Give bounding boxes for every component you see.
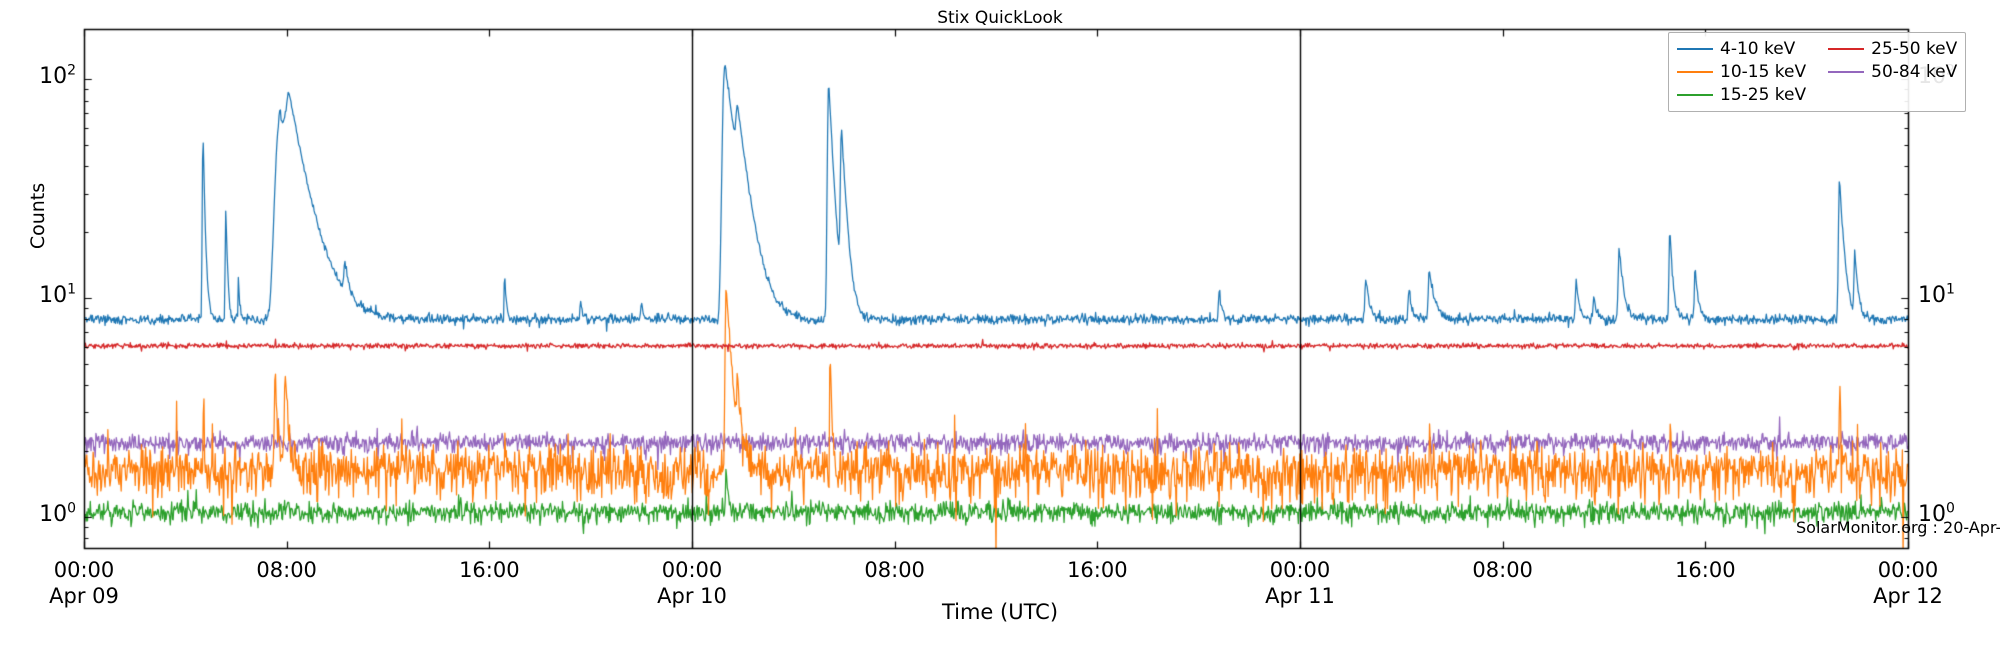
x-tick-time: 08:00 [197, 558, 377, 582]
page-title: Stix QuickLook [0, 8, 2000, 28]
x-tick-time: 00:00 [602, 558, 782, 582]
y-axis-label: Counts [27, 156, 49, 276]
x-tick-date: Apr 11 [1210, 584, 1390, 608]
x-tick-time: 00:00 [0, 558, 174, 582]
legend-line-icon [1828, 71, 1864, 73]
stix-quicklook-figure: Stix QuickLook Counts Time (UTC) 1001001… [0, 0, 2000, 650]
credit-watermark: SolarMonitor.org : 20-Apr-2026 21:30 UTC [1796, 518, 1898, 537]
legend-line-icon [1677, 48, 1713, 50]
legend-line-icon [1677, 71, 1713, 73]
y-tick-label-left: 102 [6, 64, 76, 89]
legend-entry[interactable]: 25-50 keV [1828, 38, 1957, 60]
x-tick-time: 00:00 [1210, 558, 1390, 582]
x-tick-time: 16:00 [399, 558, 579, 582]
x-tick-date: Apr 09 [0, 584, 174, 608]
y-tick-label-right: 101 [1918, 283, 1998, 308]
x-tick-time: 00:00 [1818, 558, 1998, 582]
legend-label: 10-15 keV [1720, 62, 1806, 82]
x-tick-time: 16:00 [1615, 558, 1795, 582]
x-tick-date: Apr 10 [602, 584, 782, 608]
legend-label: 15-25 keV [1720, 85, 1806, 105]
legend-label: 50-84 keV [1871, 62, 1957, 82]
legend-entry[interactable]: 4-10 keV [1677, 38, 1806, 60]
legend-label: 25-50 keV [1871, 39, 1957, 59]
legend-line-icon [1828, 48, 1864, 50]
x-tick-time: 08:00 [1413, 558, 1593, 582]
legend-label: 4-10 keV [1720, 39, 1795, 59]
legend[interactable]: 4-10 keV25-50 keV10-15 keV50-84 keV15-25… [1668, 32, 1966, 112]
x-tick-time: 08:00 [805, 558, 985, 582]
x-tick-date: Apr 12 [1818, 584, 1998, 608]
legend-entry[interactable]: 50-84 keV [1828, 61, 1957, 83]
legend-entry[interactable]: 10-15 keV [1677, 61, 1806, 83]
x-tick-time: 16:00 [1007, 558, 1187, 582]
legend-entry[interactable]: 15-25 keV [1677, 84, 1806, 106]
legend-line-icon [1677, 94, 1713, 96]
y-tick-label-left: 101 [6, 283, 76, 308]
y-tick-label-left: 100 [6, 502, 76, 527]
x-axis-label: Time (UTC) [0, 600, 2000, 624]
